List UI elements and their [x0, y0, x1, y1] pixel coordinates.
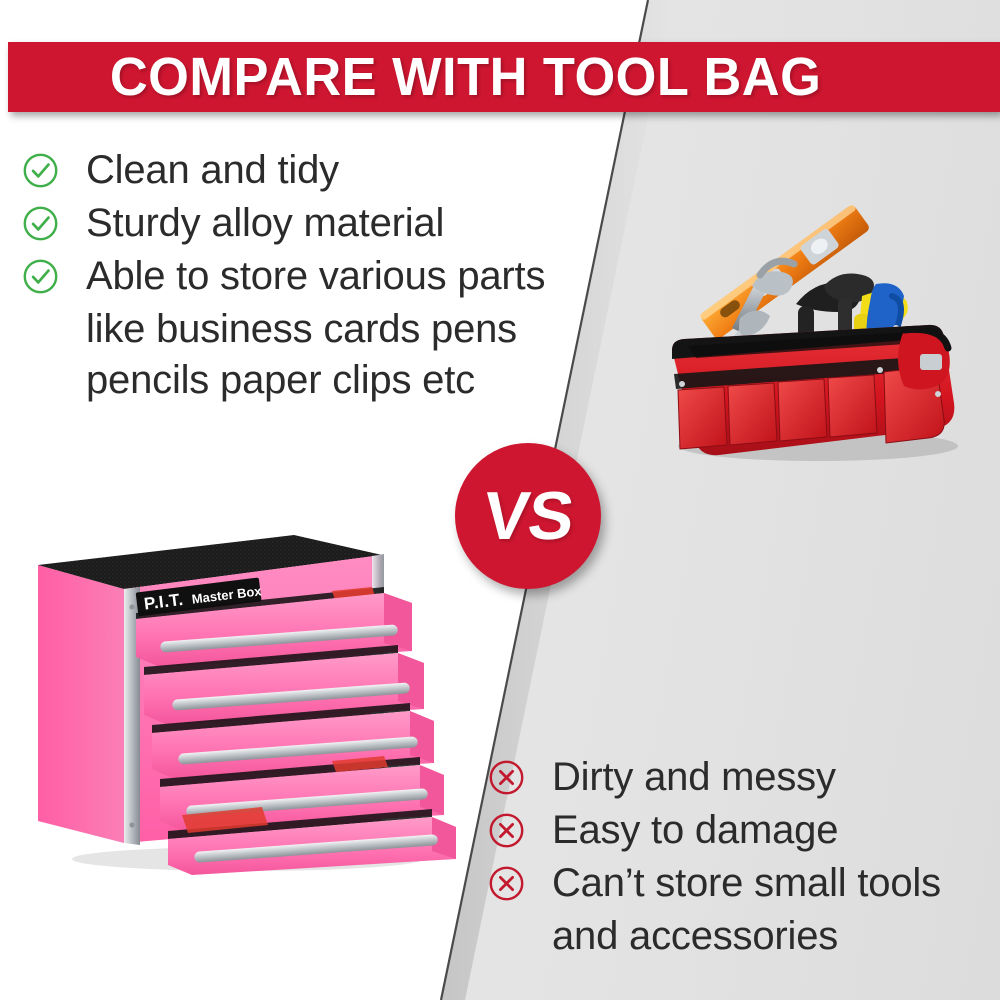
list-item: Clean and tidy: [22, 145, 602, 196]
list-item-continuation: and accessories: [488, 911, 988, 962]
list-item-label: Easy to damage: [552, 805, 838, 856]
vs-badge: VS: [455, 443, 601, 589]
tool-chest-image: P.I.T. Master Box: [32, 525, 462, 875]
list-item-continuation: pencils paper clips etc: [22, 355, 602, 406]
x-circle-icon: [488, 865, 525, 902]
tool-bag-image: [648, 178, 978, 468]
x-circle-icon: [488, 812, 525, 849]
check-circle-icon: [22, 205, 59, 242]
list-item-continuation: like business cards pens: [22, 304, 602, 355]
list-item-label: Clean and tidy: [86, 145, 339, 196]
page-title: COMPARE WITH TOOL BAG: [8, 50, 821, 104]
list-item-label: Able to store various parts: [86, 251, 545, 302]
cons-list: Dirty and messy Easy to damage Can’t sto…: [488, 752, 988, 962]
list-item-label: Can’t store small tools: [552, 858, 941, 909]
infographic-canvas: COMPARE WITH TOOL BAG Clean and tidy Stu…: [0, 0, 1000, 1000]
list-item: Easy to damage: [488, 805, 988, 856]
pros-list: Clean and tidy Sturdy alloy material Abl…: [22, 145, 602, 406]
check-circle-icon: [22, 152, 59, 189]
check-circle-icon: [22, 258, 59, 295]
header-banner: COMPARE WITH TOOL BAG: [8, 42, 1000, 112]
list-item: Can’t store small tools: [488, 858, 988, 909]
list-item-label: Sturdy alloy material: [86, 198, 444, 249]
list-item: Sturdy alloy material: [22, 198, 602, 249]
x-circle-icon: [488, 759, 525, 796]
list-item: Able to store various parts: [22, 251, 602, 302]
vs-label: VS: [480, 482, 576, 550]
list-item: Dirty and messy: [488, 752, 988, 803]
list-item-label: Dirty and messy: [552, 752, 836, 803]
